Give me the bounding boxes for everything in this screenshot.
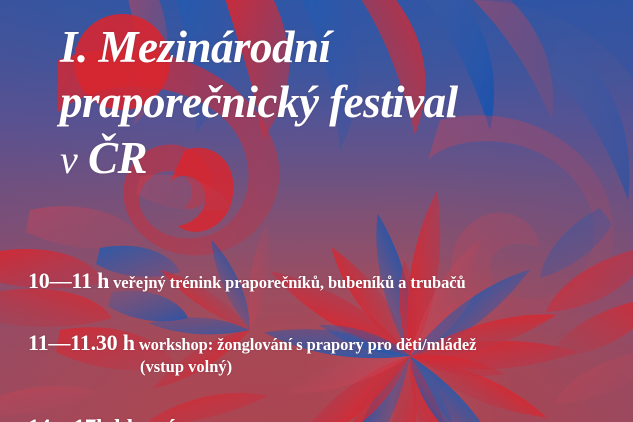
title-line-1: I. Mezinárodní [60, 22, 630, 72]
title-line-3-main: ČR [88, 133, 147, 183]
schedule-item-3-time: 14—17h hlavní program [28, 415, 265, 422]
title-line-3-prefix: v [60, 137, 77, 182]
schedule-list: 10—11 h veřejný trénink praporečníků, bu… [28, 262, 628, 422]
schedule-item-1-time: 10—11 h [28, 268, 109, 293]
text-layer: I. Mezinárodní praporečnický festival v … [0, 0, 633, 422]
schedule-item-1-description: veřejný trénink praporečníků, bubeníků a… [113, 273, 465, 292]
poster-title: I. Mezinárodní praporečnický festival v … [60, 22, 630, 186]
schedule-item-2: 11—11.30 h workshop: žonglování s prapor… [28, 330, 628, 356]
poster: I. Mezinárodní praporečnický festival v … [0, 0, 633, 422]
schedule-item-2-time: 11—11.30 h [28, 330, 135, 355]
title-line-2: praporečnický festival [60, 74, 630, 130]
schedule-item-3: 14—17h hlavní program [28, 415, 628, 422]
schedule-item-2-note: (vstup volný) [28, 357, 628, 377]
schedule-item-2-description: workshop: žonglování s prapory pro děti/… [139, 335, 477, 354]
title-line-3: v ČR [60, 132, 630, 186]
schedule-item-1: 10—11 h veřejný trénink praporečníků, bu… [28, 268, 628, 294]
